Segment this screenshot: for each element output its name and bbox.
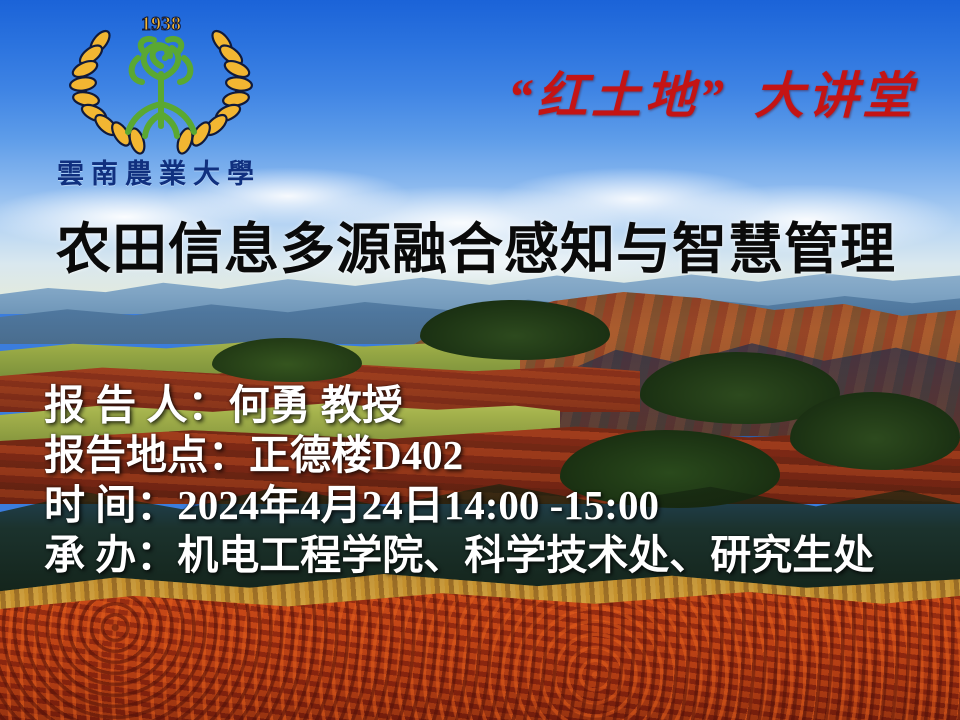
university-logo: 1938 雲南農業大學 bbox=[44, 8, 274, 198]
detail-speaker-label: 报 告 人： bbox=[44, 380, 229, 430]
lecture-series-quoted-name: “红土地” bbox=[508, 68, 728, 124]
lecture-poster: 1938 雲南農業大學 “红土地”大讲堂 农田信息多源融合感知与智慧管理 报 告… bbox=[0, 0, 960, 720]
detail-venue: 报告地点：正德楼D402 bbox=[44, 430, 960, 480]
tree-cluster-left bbox=[212, 338, 362, 382]
detail-time-value: 2024年4月24日14:00 -15:00 bbox=[177, 480, 659, 530]
lecture-series-brand: “红土地”大讲堂 bbox=[508, 56, 916, 128]
lecture-series-suffix: 大讲堂 bbox=[754, 68, 916, 124]
detail-speaker-value: 何勇 教授 bbox=[229, 380, 403, 430]
detail-time: 时 间：2024年4月24日14:00 -15:00 bbox=[44, 480, 960, 530]
detail-organizers-value: 机电工程学院、科学技术处、研究生处 bbox=[177, 530, 874, 580]
emblem-founded-year: 1938 bbox=[141, 13, 181, 35]
foreground-red-soil bbox=[0, 588, 960, 720]
detail-time-label: 时 间： bbox=[44, 480, 177, 530]
university-emblem-icon: 1938 bbox=[66, 8, 256, 158]
event-details: 报 告 人：何勇 教授 报告地点：正德楼D402 时 间：2024年4月24日1… bbox=[44, 380, 960, 580]
detail-speaker: 报 告 人：何勇 教授 bbox=[44, 380, 960, 430]
detail-venue-value: 正德楼D402 bbox=[249, 430, 463, 480]
detail-organizers: 承 办：机电工程学院、科学技术处、研究生处 bbox=[44, 530, 960, 580]
detail-venue-label: 报告地点： bbox=[44, 430, 249, 480]
university-wordmark: 雲南農業大學 bbox=[44, 152, 274, 191]
page-title: 农田信息多源融合感知与智慧管理 bbox=[56, 204, 956, 284]
detail-organizers-label: 承 办： bbox=[44, 530, 177, 580]
